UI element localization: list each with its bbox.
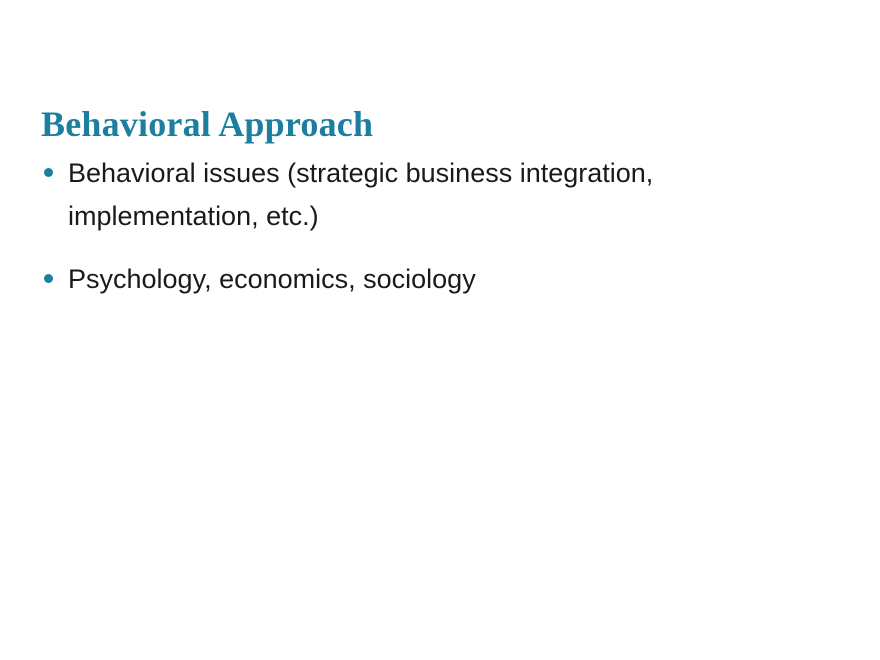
list-item-label: Behavioral issues (strategic business in… [68, 152, 830, 238]
list-item: Behavioral issues (strategic business in… [40, 152, 830, 238]
bullet-dot-icon [44, 168, 53, 177]
page-title: Behavioral Approach [41, 102, 373, 146]
bullet-dot-icon [44, 274, 53, 283]
slide-canvas: Behavioral Approach Behavioral issues (s… [0, 0, 880, 660]
list-item: Psychology, economics, sociology [40, 258, 830, 301]
bullet-list: Behavioral issues (strategic business in… [40, 152, 830, 301]
list-item-label: Psychology, economics, sociology [68, 258, 830, 301]
